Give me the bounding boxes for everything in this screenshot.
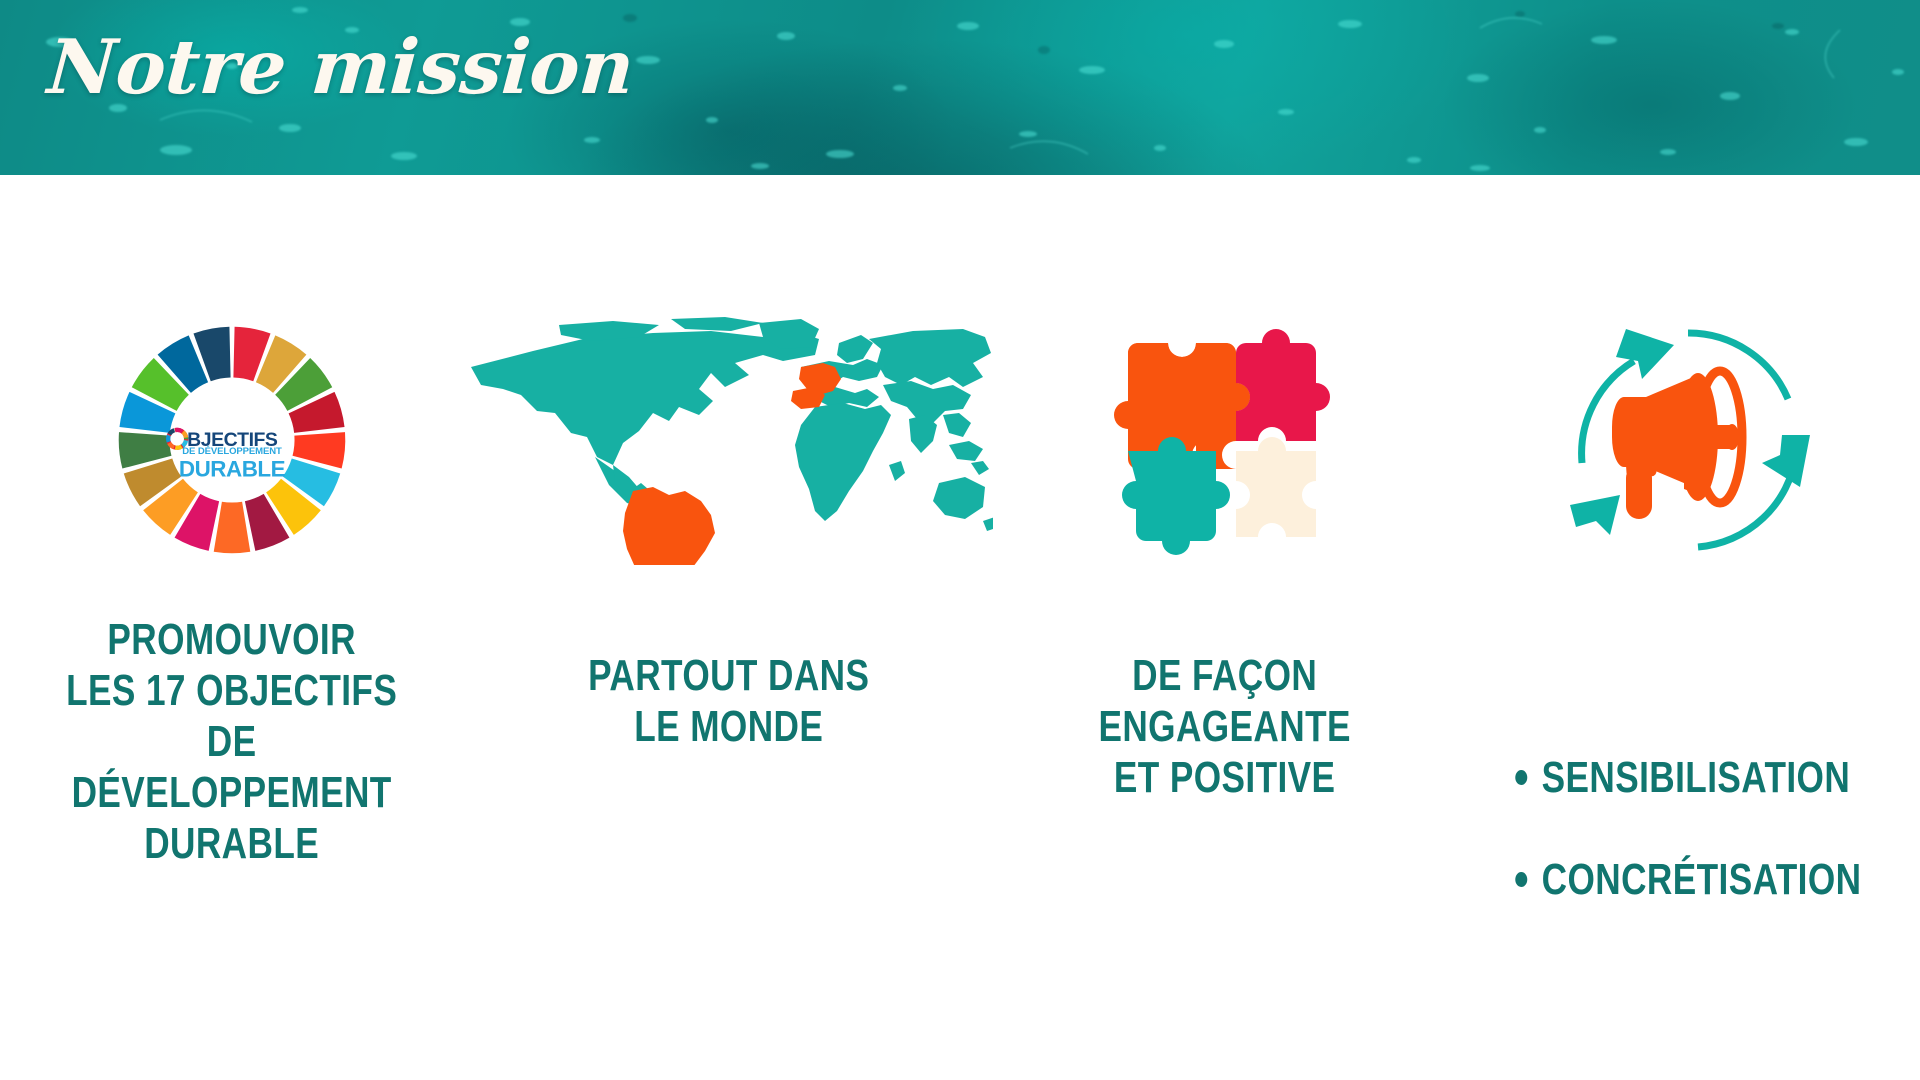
bullet-label: CONCRÉTISATION bbox=[1542, 854, 1862, 905]
puzzle-piece-teal bbox=[1122, 437, 1230, 555]
sdg-wheel-segment bbox=[213, 502, 250, 554]
mission-slide: Notre mission bbox=[0, 0, 1920, 1080]
megaphone-cycle-icon bbox=[1548, 290, 1828, 590]
list-item: SENSIBILISATION bbox=[1515, 752, 1861, 803]
sdg-wheel-icon: BJECTIFS DE DÉVELOPPEMENT DURABLE bbox=[114, 290, 350, 590]
puzzle-piece-cream bbox=[1236, 437, 1316, 537]
mission-item-sdg: BJECTIFS DE DÉVELOPPEMENT DURABLE PROMOU… bbox=[0, 175, 463, 869]
list-item: CONCRÉTISATION bbox=[1515, 854, 1861, 905]
header-banner: Notre mission bbox=[0, 0, 1920, 175]
mission-item-megaphone: SENSIBILISATION CONCRÉTISATION bbox=[1457, 175, 1920, 1007]
sdg-label-durable: DURABLE bbox=[179, 457, 286, 482]
megaphone bbox=[1612, 371, 1742, 519]
mission-item-world: PARTOUT DANS LE MONDE bbox=[463, 175, 993, 752]
sdg-label-developpement: DE DÉVELOPPEMENT bbox=[182, 446, 282, 457]
mission-caption-engageante: DE FAÇON ENGAGEANTE ET POSITIVE bbox=[1040, 650, 1411, 803]
mission-bullet-list: SENSIBILISATION CONCRÉTISATION bbox=[1515, 701, 1861, 956]
page-title: Notre mission bbox=[45, 28, 636, 107]
mission-columns: BJECTIFS DE DÉVELOPPEMENT DURABLE PROMOU… bbox=[0, 175, 1920, 1080]
world-map-icon bbox=[463, 290, 993, 590]
mission-caption-world: PARTOUT DANS LE MONDE bbox=[588, 650, 869, 752]
mission-caption-promouvoir: PROMOUVOIR LES 17 OBJECTIFS DE DÉVELOPPE… bbox=[46, 614, 417, 869]
puzzle-pieces-icon bbox=[1100, 290, 1350, 590]
puzzle-piece-crimson bbox=[1236, 329, 1330, 441]
bullet-dot-icon bbox=[1515, 770, 1527, 785]
mission-caption-bullets: SENSIBILISATION CONCRÉTISATION bbox=[1515, 650, 1861, 1007]
map-continents bbox=[471, 317, 993, 531]
bullet-label: SENSIBILISATION bbox=[1542, 752, 1850, 803]
bullet-dot-icon bbox=[1515, 872, 1527, 887]
mission-item-puzzle: DE FAÇON ENGAGEANTE ET POSITIVE bbox=[993, 175, 1456, 803]
